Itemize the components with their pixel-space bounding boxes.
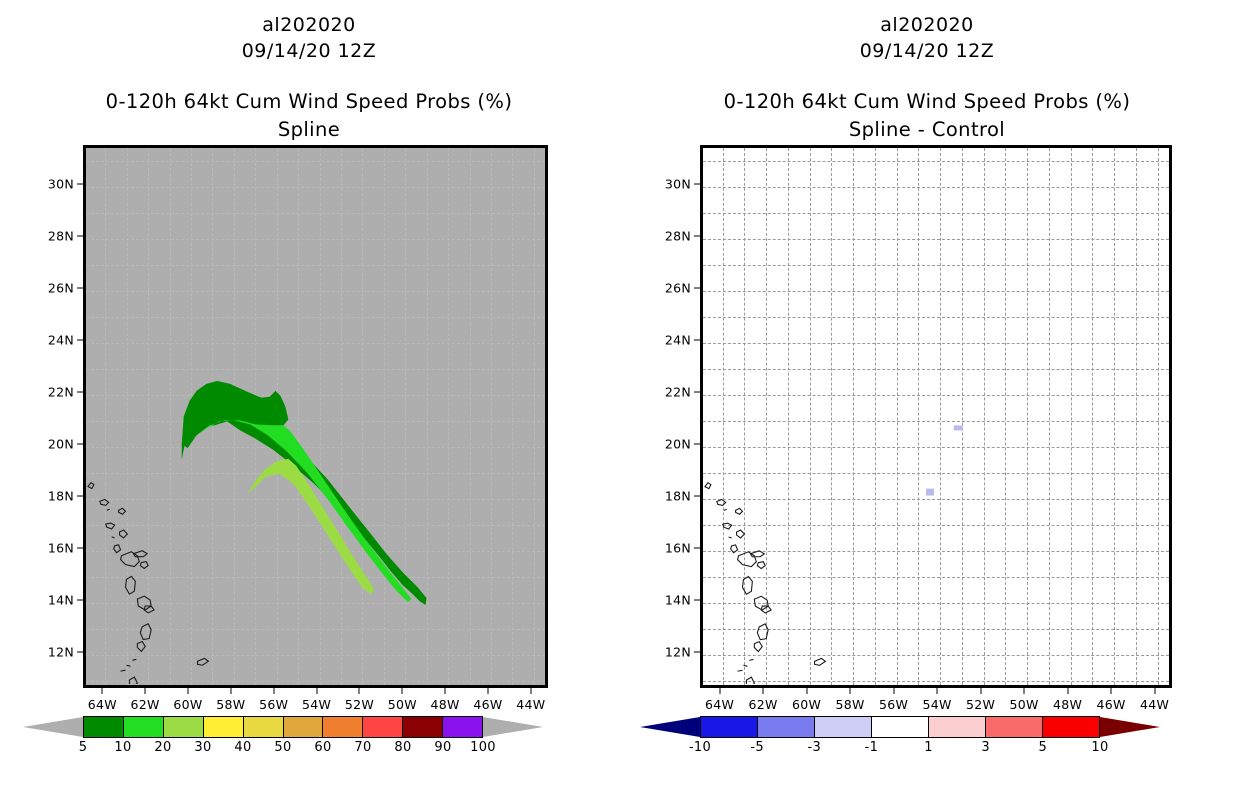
y-axis-tick [77, 651, 83, 652]
x-axis-tick [850, 688, 851, 694]
x-axis-label: 50W [1009, 697, 1038, 712]
y-axis-label: 22N [48, 384, 74, 399]
colorbar-extend-low-left [23, 716, 83, 738]
storm-id-right: al202020 [618, 14, 1236, 36]
colorbar-extend-high-right [1100, 716, 1160, 738]
x-axis-tick [145, 688, 146, 694]
x-axis-label: 52W [966, 697, 995, 712]
colorbar-swatch [872, 717, 929, 737]
x-axis-tick [445, 688, 446, 694]
colorbar-swatch [986, 717, 1043, 737]
y-axis-label: 30N [665, 176, 691, 191]
x-axis-label: 62W [748, 697, 777, 712]
x-axis-tick [488, 688, 489, 694]
colorbar-ticks-difference: -10-5-3-113510 [700, 740, 1100, 758]
colorbar-swatches-probability [83, 716, 483, 738]
colorbar-extend-low-right [640, 716, 700, 738]
colorbar-tick-label: 80 [394, 740, 411, 755]
colorbar-swatch [204, 717, 244, 737]
axis-labels-left: 30N28N26N24N22N20N18N16N14N12N64W62W60W5… [83, 145, 548, 688]
x-axis-label: 54W [922, 697, 951, 712]
chart-subtitle-left: Spline [0, 118, 618, 141]
axis-labels-right: 30N28N26N24N22N20N18N16N14N12N64W62W60W5… [700, 145, 1172, 688]
y-axis-label: 16N [48, 540, 74, 555]
y-axis-label: 16N [665, 540, 691, 555]
colorbar-swatch [403, 717, 443, 737]
y-axis-label: 24N [48, 332, 74, 347]
x-axis-tick [359, 688, 360, 694]
x-axis-label: 50W [388, 697, 417, 712]
colorbar-tick-label: 20 [154, 740, 171, 755]
colorbar-swatch [443, 717, 482, 737]
colorbar-swatch [1043, 717, 1099, 737]
colorbar-swatch [363, 717, 403, 737]
colorbar-tick-label: 90 [434, 740, 451, 755]
x-axis-tick [230, 688, 231, 694]
x-axis-label: 60W [173, 697, 202, 712]
x-axis-label: 60W [792, 697, 821, 712]
x-axis-label: 56W [259, 697, 288, 712]
x-axis-tick [530, 688, 531, 694]
x-axis-label: 58W [216, 697, 245, 712]
x-axis-tick [188, 688, 189, 694]
x-axis-label: 46W [1097, 697, 1126, 712]
colorbar-probability[interactable]: 5102030405060708090100 [83, 716, 483, 738]
valid-time-left: 09/14/20 12Z [0, 40, 618, 62]
colorbar-swatch [758, 717, 815, 737]
colorbar-tick-label: 40 [234, 740, 251, 755]
colorbar-swatch [84, 717, 124, 737]
y-axis-tick [694, 651, 700, 652]
storm-id-left: al202020 [0, 14, 618, 36]
colorbar-tick-label: 50 [274, 740, 291, 755]
y-axis-label: 20N [665, 436, 691, 451]
x-axis-label: 54W [302, 697, 331, 712]
colorbar-swatches-difference [700, 716, 1100, 738]
y-axis-label: 26N [665, 280, 691, 295]
x-axis-tick [763, 688, 764, 694]
x-axis-label: 62W [131, 697, 160, 712]
x-axis-tick [719, 688, 720, 694]
y-axis-label: 18N [48, 488, 74, 503]
colorbar-swatch [124, 717, 164, 737]
y-axis-tick [694, 287, 700, 288]
y-axis-tick [77, 599, 83, 600]
y-axis-label: 14N [48, 592, 74, 607]
colorbar-tick-label: 10 [114, 740, 131, 755]
x-axis-tick [806, 688, 807, 694]
colorbar-swatch [815, 717, 872, 737]
colorbar-tick-label: 30 [194, 740, 211, 755]
y-axis-label: 12N [665, 644, 691, 659]
y-axis-tick [694, 495, 700, 496]
colorbar-swatch [244, 717, 284, 737]
colorbar-tick-label: 5 [1039, 740, 1048, 755]
x-axis-tick [102, 688, 103, 694]
y-axis-label: 22N [665, 384, 691, 399]
colorbar-ticks-probability: 5102030405060708090100 [83, 740, 483, 758]
x-axis-label: 48W [431, 697, 460, 712]
colorbar-tick-label: 60 [314, 740, 331, 755]
y-axis-label: 24N [665, 332, 691, 347]
colorbar-difference[interactable]: -10-5-3-113510 [700, 716, 1100, 738]
y-axis-tick [694, 443, 700, 444]
x-axis-label: 44W [1140, 697, 1169, 712]
colorbar-tick-label: 5 [79, 740, 88, 755]
y-axis-label: 26N [48, 280, 74, 295]
y-axis-tick [77, 443, 83, 444]
x-axis-tick [316, 688, 317, 694]
x-axis-label: 64W [88, 697, 117, 712]
x-axis-label: 46W [473, 697, 502, 712]
y-axis-label: 12N [48, 644, 74, 659]
x-axis-tick [402, 688, 403, 694]
colorbar-tick-label: -3 [808, 740, 822, 755]
valid-time-right: 09/14/20 12Z [618, 40, 1236, 62]
x-axis-label: 56W [879, 697, 908, 712]
colorbar-tick-label: -5 [750, 740, 764, 755]
y-axis-label: 14N [665, 592, 691, 607]
x-axis-tick [893, 688, 894, 694]
colorbar-swatch [164, 717, 204, 737]
colorbar-swatch [701, 717, 758, 737]
y-axis-tick [694, 339, 700, 340]
y-axis-tick [694, 391, 700, 392]
y-axis-tick [77, 183, 83, 184]
y-axis-tick [77, 391, 83, 392]
y-axis-tick [77, 547, 83, 548]
x-axis-tick [1067, 688, 1068, 694]
y-axis-label: 20N [48, 436, 74, 451]
y-axis-tick [694, 547, 700, 548]
x-axis-label: 64W [705, 697, 734, 712]
x-axis-tick [1024, 688, 1025, 694]
y-axis-tick [694, 599, 700, 600]
x-axis-label: 58W [835, 697, 864, 712]
x-axis-tick [1111, 688, 1112, 694]
x-axis-tick [273, 688, 274, 694]
colorbar-tick-label: 100 [470, 740, 496, 755]
chart-subtitle-right: Spline - Control [618, 118, 1236, 141]
y-axis-tick [77, 495, 83, 496]
y-axis-label: 28N [48, 228, 74, 243]
panel-spline-minus-control: al202020 09/14/20 12Z 0-120h 64kt Cum Wi… [618, 0, 1236, 800]
panel-spline: al202020 09/14/20 12Z 0-120h 64kt Cum Wi… [0, 0, 618, 800]
y-axis-tick [77, 287, 83, 288]
y-axis-label: 28N [665, 228, 691, 243]
colorbar-tick-label: 1 [924, 740, 933, 755]
chart-title-left: 0-120h 64kt Cum Wind Speed Probs (%) [0, 90, 618, 113]
colorbar-swatch [323, 717, 363, 737]
colorbar-tick-label: 10 [1091, 740, 1108, 755]
y-axis-label: 18N [665, 488, 691, 503]
x-axis-label: 48W [1053, 697, 1082, 712]
colorbar-extend-high-left [483, 716, 543, 738]
y-axis-label: 30N [48, 176, 74, 191]
x-axis-label: 44W [516, 697, 545, 712]
x-axis-tick [980, 688, 981, 694]
y-axis-tick [77, 339, 83, 340]
x-axis-tick [937, 688, 938, 694]
y-axis-tick [77, 235, 83, 236]
colorbar-swatch [929, 717, 986, 737]
x-axis-label: 52W [345, 697, 374, 712]
colorbar-tick-label: -10 [689, 740, 711, 755]
colorbar-tick-label: 3 [981, 740, 990, 755]
y-axis-tick [694, 183, 700, 184]
x-axis-tick [1154, 688, 1155, 694]
colorbar-tick-label: -1 [865, 740, 879, 755]
y-axis-tick [694, 235, 700, 236]
chart-title-right: 0-120h 64kt Cum Wind Speed Probs (%) [618, 90, 1236, 113]
colorbar-swatch [284, 717, 324, 737]
colorbar-tick-label: 70 [354, 740, 371, 755]
